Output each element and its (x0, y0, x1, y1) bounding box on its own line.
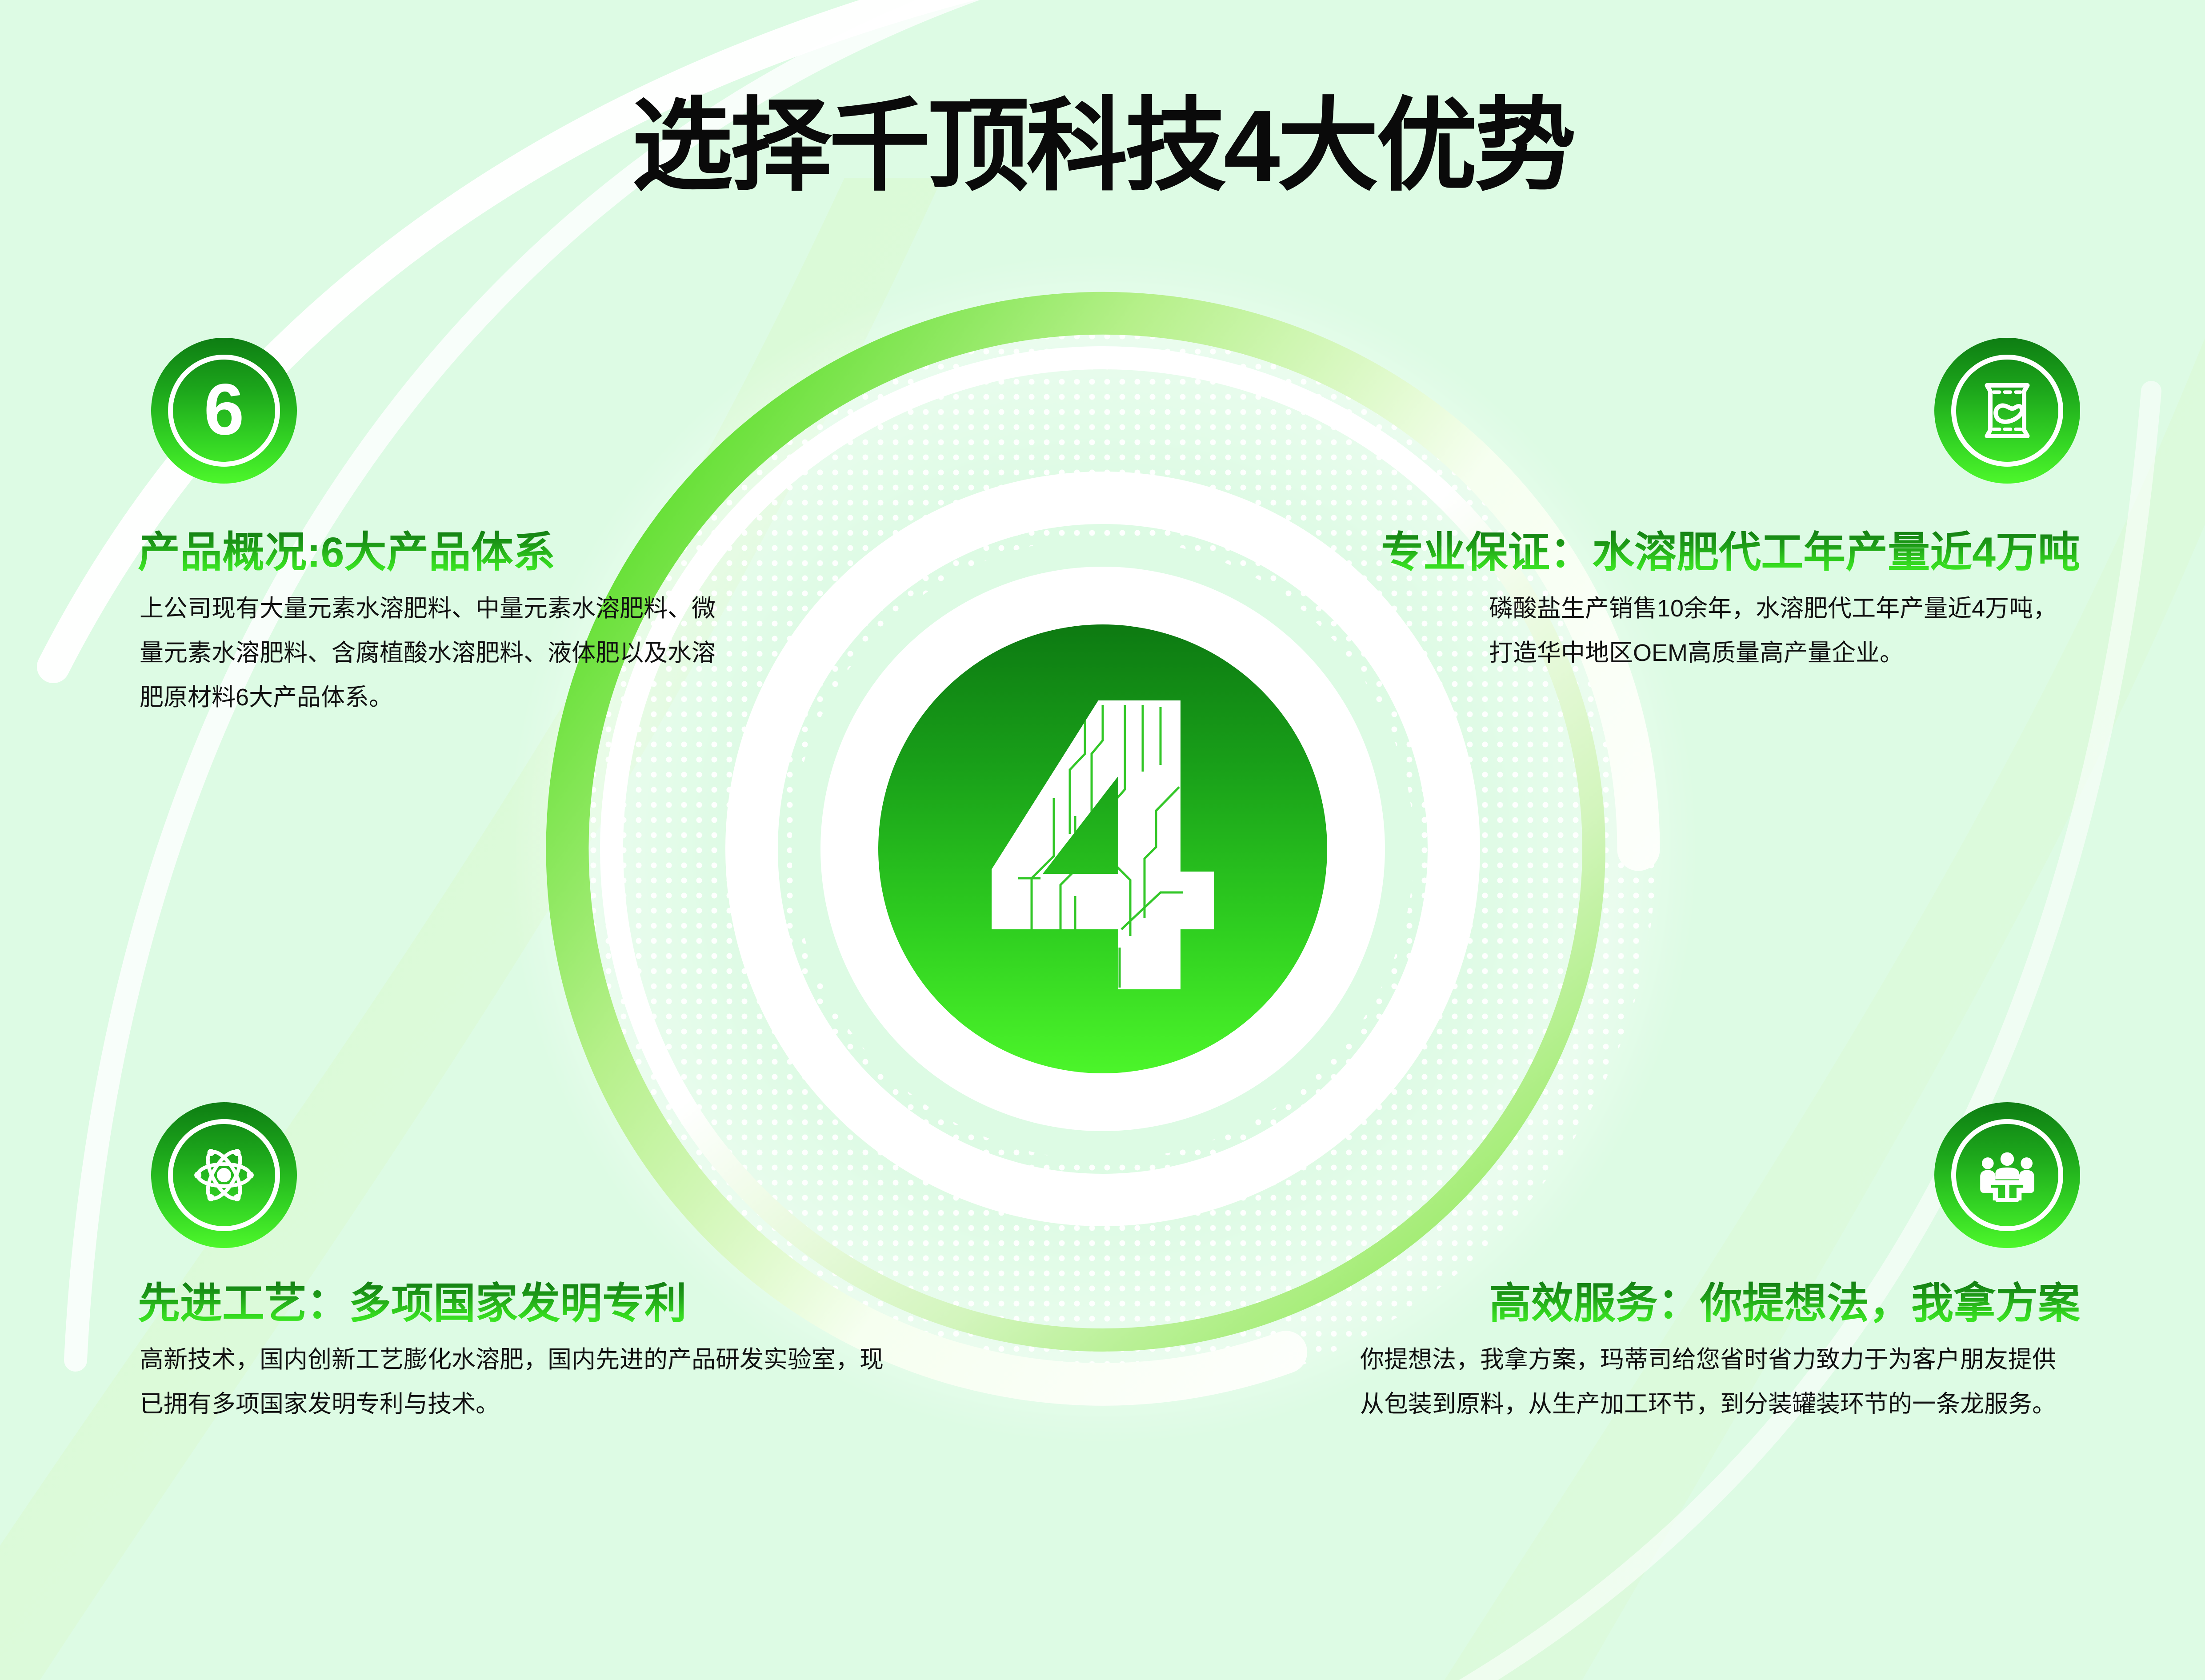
feature-body: 高新技术，国内创新工艺膨化水溶肥，国内先进的产品研发实验室，现已拥有多项国家发明… (140, 1338, 895, 1427)
bag-glyph-icon (1965, 368, 2049, 453)
team-glyph-icon (1965, 1133, 2049, 1217)
feature-heading: 先进工艺：多项国家发明专利 (138, 1280, 687, 1327)
atom-glyph-icon (182, 1133, 266, 1217)
fertilizer-bag-icon[interactable] (1934, 338, 2080, 484)
feature-body: 磷酸盐生产销售10余年，水溶肥代工年产量近4万吨，打造华中地区OEM高质量高产量… (1489, 587, 2076, 676)
feature-heading: 高效服务：你提想法，我拿方案 (1489, 1280, 2080, 1327)
feature-heading: 专业保证：水溶肥代工年产量近4万吨 (1381, 529, 2080, 576)
page-title: 选择千顶科技4大优势 (0, 93, 2205, 200)
center-number-four-icon (965, 687, 1241, 998)
svg-text:6: 6 (204, 368, 244, 450)
meeting-team-icon[interactable] (1934, 1102, 2080, 1248)
infographic-canvas: 选择千顶科技4大优势 (0, 0, 2205, 1680)
six-glyph-icon: 6 (182, 368, 266, 453)
feature-heading: 产品概况:6大产品体系 (138, 529, 555, 576)
number-six-icon[interactable]: 6 (151, 338, 297, 484)
atom-icon[interactable] (151, 1102, 297, 1248)
feature-body: 你提想法，我拿方案，玛蒂司给您省时省力致力于为客户朋友提供从包装到原料，从生产加… (1360, 1338, 2076, 1427)
feature-body: 上公司现有大量元素水溶肥料、中量元素水溶肥料、微量元素水溶肥料、含腐植酸水溶肥料… (140, 587, 717, 720)
